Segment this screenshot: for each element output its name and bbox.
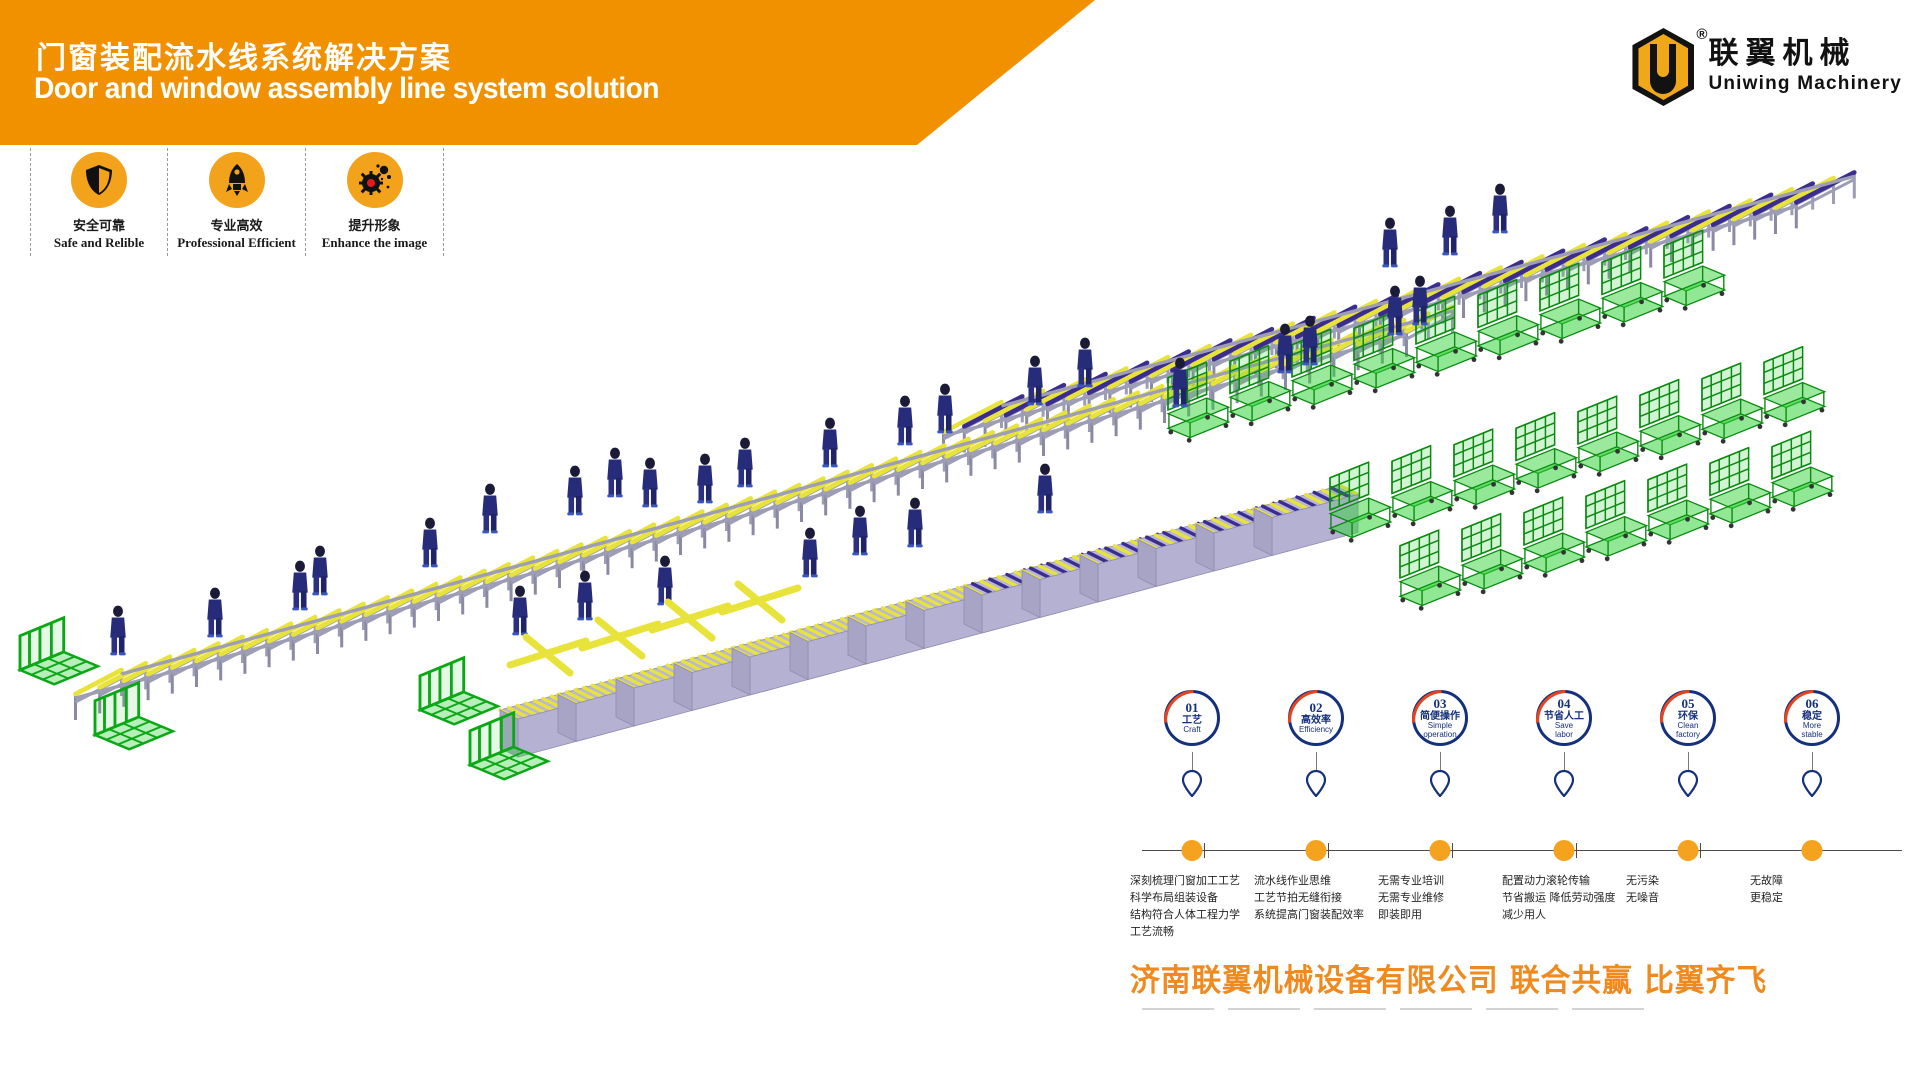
page-title-cn: 门窗装配流水线系统解决方案 (36, 33, 452, 77)
timeline-title-cn: 工艺 (1182, 715, 1202, 727)
registered-mark-icon: ® (1696, 26, 1707, 43)
benefits-timeline: 01 工艺 Craft 深刻梳理门窗加工工艺 科学布局组装设备 结构符合人体工程… (1130, 690, 1920, 960)
timeline-number: 02 (1310, 701, 1323, 715)
timeline-title-cn: 简便操作 (1420, 711, 1460, 723)
map-pin-icon (1182, 770, 1202, 797)
map-pin-icon (1554, 770, 1574, 797)
timeline-title-cn: 环保 (1678, 711, 1698, 723)
timeline-description: 无污染 无噪音 (1626, 872, 1750, 906)
timeline-number: 03 (1434, 697, 1447, 711)
timeline-ring: 06 稳定 More stable (1784, 690, 1840, 746)
timeline-ring: 02 高效率 Efficiency (1288, 690, 1344, 746)
brand-name-cn: 联翼机械 (1708, 38, 1902, 70)
feature-label-cn: 专业高效 (210, 215, 262, 234)
timeline-title-cn: 节省人工 (1544, 711, 1584, 723)
map-pin-icon (1802, 770, 1822, 797)
timeline-title-en: Save labor (1555, 722, 1573, 739)
timeline-title-en: Efficiency (1299, 726, 1333, 734)
timeline-dot (1306, 840, 1327, 861)
timeline-dot (1182, 840, 1203, 861)
timeline-title-en: Craft (1183, 726, 1200, 734)
map-pin-icon (1678, 770, 1698, 797)
timeline-number: 01 (1186, 701, 1199, 715)
timeline-number: 04 (1558, 697, 1571, 711)
page-title-en: Door and window assembly line system sol… (34, 72, 659, 106)
timeline-title-en: More stable (1801, 722, 1822, 739)
timeline-number: 05 (1682, 697, 1695, 711)
timeline-description: 无需专业培训 无需专业维修 即装即用 (1378, 872, 1502, 923)
timeline-ring: 05 环保 Clean factory (1660, 690, 1716, 746)
timeline-item-01[interactable]: 01 工艺 Craft 深刻梳理门窗加工工艺 科学布局组装设备 结构符合人体工程… (1130, 690, 1254, 746)
timeline-title-cn: 稳定 (1802, 711, 1822, 723)
feature-label-en: Enhance the image (322, 235, 427, 251)
timeline-title-cn: 高效率 (1301, 715, 1331, 727)
timeline-title-en: Clean factory (1676, 722, 1700, 739)
map-pin-icon (1306, 770, 1326, 797)
brand-name-en: Uniwing Machinery (1708, 73, 1902, 96)
timeline-ring: 04 节省人工 Save labor (1536, 690, 1592, 746)
feature-item-safe: 安全可靠 Safe and Relible (30, 148, 168, 256)
feature-strip: 安全可靠 Safe and Relible 专业高效 Professional … (30, 148, 444, 256)
rocket-icon (209, 152, 265, 208)
feature-item-efficient: 专业高效 Professional Efficient (168, 148, 306, 256)
timeline-description: 深刻梳理门窗加工工艺 科学布局组装设备 结构符合人体工程力学 工艺流畅 (1130, 872, 1254, 940)
company-slogan: 济南联翼机械设备有限公司 联合共赢 比翼齐飞 (1130, 955, 1888, 1000)
timeline-item-06[interactable]: 06 稳定 More stable 无故障 更稳定 (1750, 690, 1874, 746)
footer-divider-group (1142, 1008, 1920, 1010)
timeline-axis (1142, 850, 1902, 851)
gear-icon (347, 152, 403, 208)
timeline-title-en: Simple operation (1423, 722, 1456, 739)
feature-label-en: Safe and Relible (54, 235, 144, 251)
brand-logo: ® 联翼机械 Uniwing Machinery (1632, 28, 1902, 106)
timeline-ring: 03 简便操作 Simple operation (1412, 690, 1468, 746)
timeline-dot (1678, 840, 1699, 861)
timeline-dot (1430, 840, 1451, 861)
timeline-item-02[interactable]: 02 高效率 Efficiency 流水线作业思维 工艺节拍无缝衔接 系统提高门… (1254, 690, 1378, 746)
hexagon-u-logo-icon: ® (1632, 28, 1694, 106)
timeline-ring: 01 工艺 Craft (1164, 690, 1220, 746)
timeline-description: 无故障 更稳定 (1750, 872, 1874, 906)
timeline-item-03[interactable]: 03 简便操作 Simple operation 无需专业培训 无需专业维修 即… (1378, 690, 1502, 746)
worker-figures (110, 184, 1508, 673)
footer-banner: 济南联翼机械设备有限公司 联合共赢 比翼齐飞 (1130, 955, 1920, 1010)
timeline-description: 配置动力滚轮传输 节省搬运 降低劳动强度 减少用人 (1502, 872, 1626, 923)
feature-label-cn: 提升形象 (348, 215, 400, 234)
timeline-dot (1802, 840, 1823, 861)
timeline-item-04[interactable]: 04 节省人工 Save labor 配置动力滚轮传输 节省搬运 降低劳动强度 … (1502, 690, 1626, 746)
timeline-description: 流水线作业思维 工艺节拍无缝衔接 系统提高门窗装配效率 (1254, 872, 1378, 923)
feature-label-cn: 安全可靠 (73, 215, 125, 234)
feature-item-image: 提升形象 Enhance the image (306, 148, 444, 256)
timeline-dot (1554, 840, 1575, 861)
map-pin-icon (1430, 770, 1450, 797)
timeline-number: 06 (1806, 697, 1819, 711)
shield-icon (71, 152, 127, 208)
feature-label-en: Professional Efficient (177, 235, 296, 251)
timeline-item-05[interactable]: 05 环保 Clean factory 无污染 无噪音 (1626, 690, 1750, 746)
